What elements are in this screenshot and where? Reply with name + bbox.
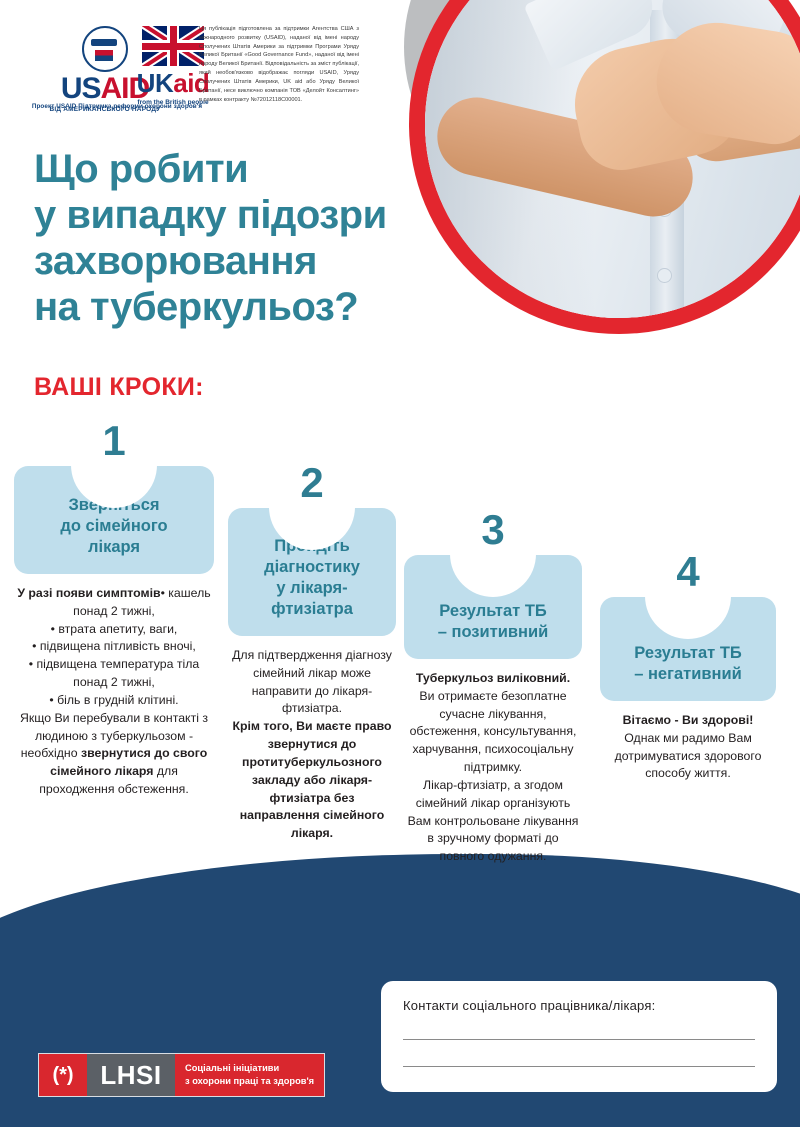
contact-box: Контакти соціального працівника/лікаря: [381,981,777,1092]
step-card-3: 3 Результат ТБ – позитивний Туберкульоз … [404,555,582,866]
step-1-body: У разі появи симптомів• кашель понад 2 т… [14,585,214,799]
step-card-4: 4 Результат ТБ – негативний Вітаємо - Ви… [600,597,776,783]
headline-line-1: Що робити [34,146,484,192]
lhsi-tagline-line-2: з охорони праці та здоров'я [185,1075,314,1088]
step-4-body-tail: Однак ми радимо Вам дотримуватися здоров… [615,731,762,781]
step-3-title: Результат ТБ – позитивний [414,601,572,643]
headline-line-3: захворювання [34,238,484,284]
project-caption: Проект USAID Підтримка реформи охорони з… [22,103,212,110]
page-title: Що робити у випадку підозри захворювання… [34,146,484,330]
headline-line-4: на туберкульоз? [34,284,484,330]
step-2-number: 2 [300,462,323,504]
step-4-number: 4 [676,551,699,593]
step-2-card-head: 2 Пройдіть діагностику у лікаря- фтизіат… [228,508,396,636]
step-3-body-bold: Туберкульоз виліковний. [416,671,570,685]
step-4-card-head: 4 Результат ТБ – негативний [600,597,776,701]
lhsi-asterisk-icon: (*) [39,1054,87,1096]
lhsi-tagline-line-1: Соціальні ініціативи [185,1062,314,1075]
headline-line-2: у випадку підозри [34,192,484,238]
step-1-body-main: • кашель понад 2 тижні, • втрата апетиту… [20,586,211,760]
step-2-body: Для підтвердження діагнозу сімейний ліка… [228,647,396,843]
step-4-title: Результат ТБ – негативний [610,643,766,685]
contact-write-line-1[interactable] [403,1039,755,1040]
lhsi-logo: (*) LHSI Соціальні ініціативи з охорони … [38,1053,325,1097]
step-1-number: 1 [102,420,125,462]
contact-write-line-2[interactable] [403,1066,755,1067]
card-notch [450,554,536,597]
step-2-body-bold: Крім того, Ви маєте право звернутися до … [232,719,391,840]
step-2-body-main: Для підтвердження діагнозу сімейний ліка… [232,648,392,715]
contact-label: Контакти соціального працівника/лікаря: [403,998,755,1013]
lhsi-tagline: Соціальні ініціативи з охорони праці та … [175,1054,324,1096]
step-3-number: 3 [481,509,504,551]
donor-disclaimer: Ця публікація підготовлена за підтримки … [199,25,359,104]
step-1-body-lead: У разі появи симптомів [17,586,160,600]
union-jack-icon [142,26,204,66]
step-4-body-bold: Вітаємо - Ви здорові! [623,713,754,727]
step-3-card-head: 3 Результат ТБ – позитивний [404,555,582,659]
step-card-1: 1 Звернiться до сімейного лікаря У разі … [14,466,214,799]
step-card-2: 2 Пройдіть діагностику у лікаря- фтизіат… [228,508,396,843]
poster-root: USAID ВІД АМЕРИКАНСЬКОГО НАРОДУ UKaid fr… [0,0,800,1127]
step-4-body: Вітаємо - Ви здорові! Однак ми радимо Ва… [600,712,776,783]
step-1-card-head: 1 Звернiться до сімейного лікаря [14,466,214,574]
step-3-body-tail: Ви отримаєте безоплатне сучасне лікуванн… [408,689,579,863]
lhsi-wordmark: LHSI [87,1054,175,1096]
card-notch [645,596,731,639]
step-3-body: Туберкульоз виліковний. Ви отримаєте без… [404,670,582,866]
steps-heading: ВАШІ КРОКИ: [34,373,204,402]
